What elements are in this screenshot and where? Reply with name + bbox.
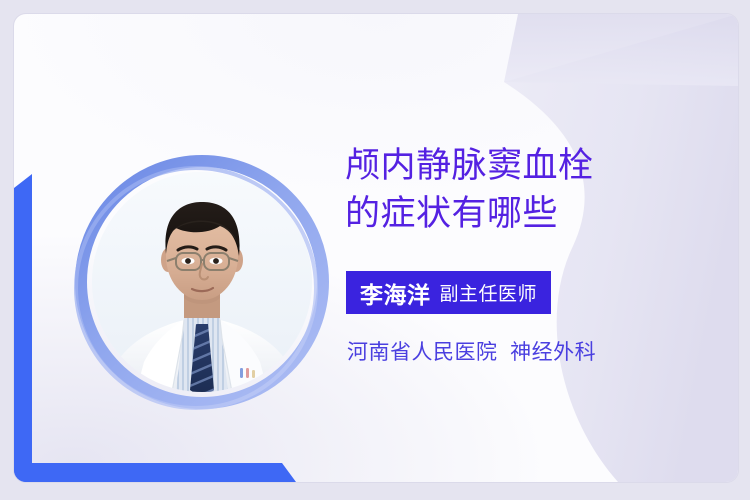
- left-accent-band: [14, 174, 32, 482]
- portrait-photo: [92, 172, 312, 392]
- doctor-portrait: [66, 146, 338, 418]
- poster-card: 颅内静脉窦血栓 的症状有哪些 李海洋 副主任医师 河南省人民医院 神经外科: [14, 14, 738, 482]
- doctor-affiliation: 河南省人民医院 神经外科: [347, 336, 596, 366]
- bottom-accent-bar: [14, 463, 296, 482]
- decorative-wave-shape: [408, 14, 738, 482]
- doctor-name-badge: 李海洋 副主任医师: [346, 271, 551, 314]
- doctor-rank: 副主任医师: [440, 279, 538, 306]
- doctor-info-poster: 颅内静脉窦血栓 的症状有哪些 李海洋 副主任医师 河南省人民医院 神经外科: [0, 0, 750, 500]
- doctor-name: 李海洋: [360, 276, 431, 310]
- page-title: 颅内静脉窦血栓 的症状有哪些: [345, 142, 655, 238]
